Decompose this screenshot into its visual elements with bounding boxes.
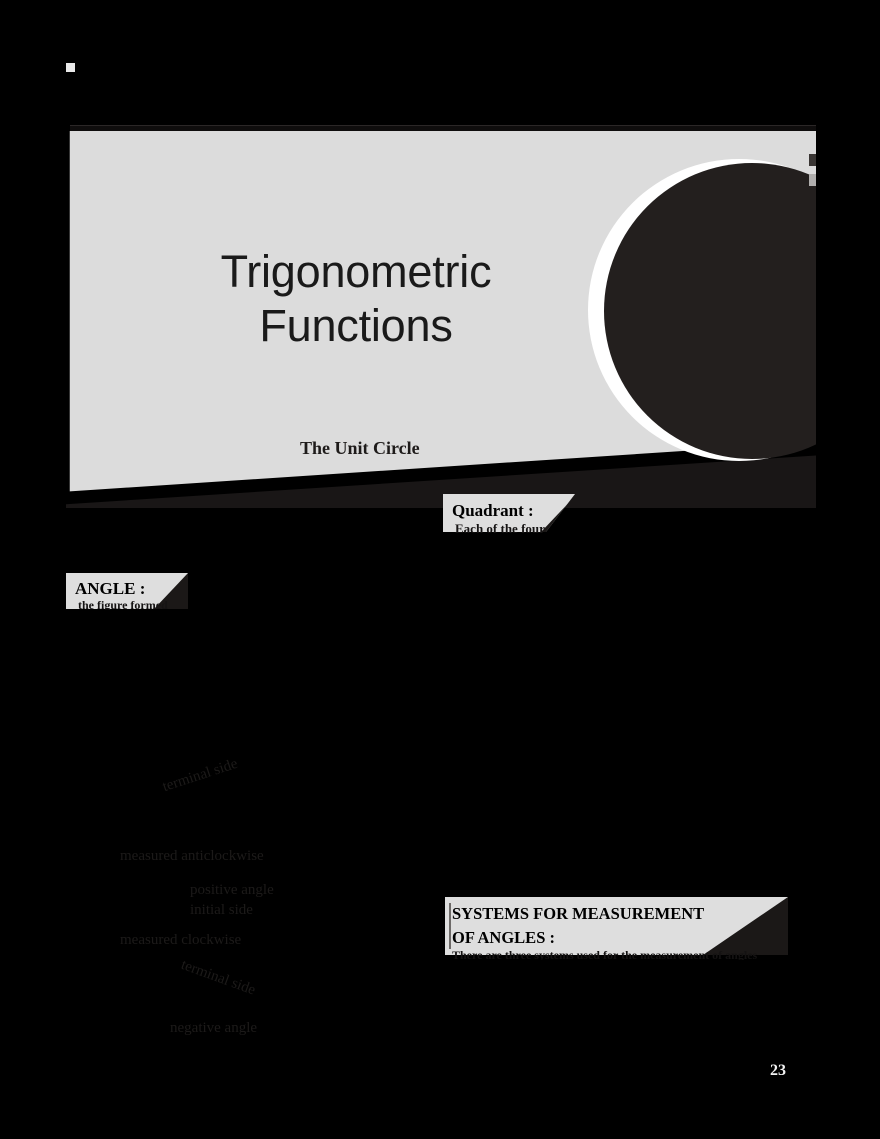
banner-left-notch xyxy=(66,63,75,72)
diagram-label-negative-angle: negative angle xyxy=(170,1018,330,1052)
left-edge-rule xyxy=(449,903,451,949)
diagram-label-positive-angle: positive angle initial side xyxy=(190,880,355,916)
page-number: 23 xyxy=(770,1062,786,1080)
banner-right-notch xyxy=(800,95,816,103)
section-body-angle-ghost: the figure formed xyxy=(78,598,188,610)
page-title: Trigonometric Functions xyxy=(96,245,616,353)
page-canvas: Trigonometric Functions The Unit Circle … xyxy=(0,0,880,1139)
banner-right-mask xyxy=(816,55,880,455)
diagram-label-terminal-side-upper: terminal side xyxy=(160,676,502,865)
title-banner: Trigonometric Functions xyxy=(0,55,880,455)
section-body-systems-ghost: There are three systems used for the mea… xyxy=(452,948,772,960)
banner-edge-chip-light xyxy=(809,174,816,186)
section-header-systems-for-measurement: SYSTEMS FOR MEASUREMENT OF ANGLES : xyxy=(445,897,788,955)
diagram-label-measured-clockwise: measured clockwise xyxy=(120,930,340,948)
section-body-quadrant-ghost: Each of the four parts xyxy=(455,521,575,535)
banner-edge-chip-dark xyxy=(809,154,816,166)
diagram-label-measured-anticlockwise: measured anticlockwise xyxy=(120,846,335,864)
banner-caption-ghost-text: The Unit Circle xyxy=(300,438,590,462)
